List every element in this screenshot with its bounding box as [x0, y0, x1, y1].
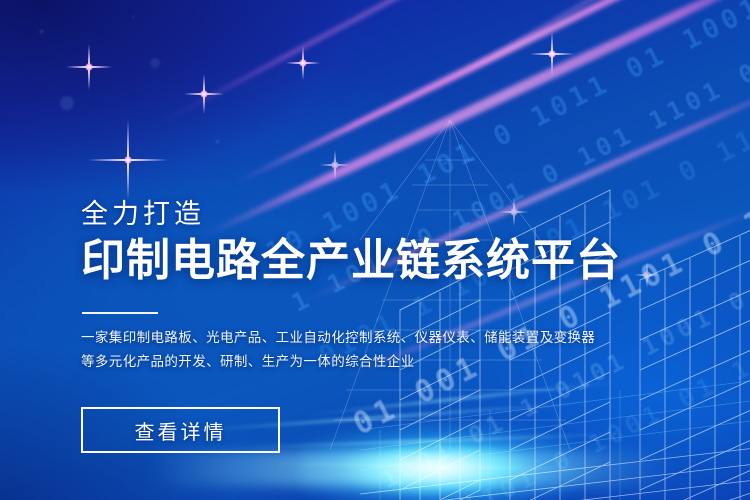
hero-description: 一家集印制电路板、光电产品、工业自动化控制系统、仪器仪表、储能装置及变换器 等多… — [81, 326, 601, 374]
hero-eyebrow: 全力打造 — [81, 198, 205, 230]
divider-rule — [82, 312, 158, 314]
hero-description-line-2: 等多元化产品的开发、研制、生产为一体的综合性企业 — [81, 350, 601, 374]
hero-headline: 印制电路全产业链系统平台 — [81, 236, 621, 286]
hero-banner: 10 1001 101 0 1011 01 1001 10 1 0101 100… — [0, 0, 750, 500]
view-details-button[interactable]: 查看详情 — [81, 407, 280, 453]
hero-content: 全力打造 印制电路全产业链系统平台 一家集印制电路板、光电产品、工业自动化控制系… — [81, 0, 681, 500]
hero-description-line-1: 一家集印制电路板、光电产品、工业自动化控制系统、仪器仪表、储能装置及变换器 — [81, 326, 601, 350]
